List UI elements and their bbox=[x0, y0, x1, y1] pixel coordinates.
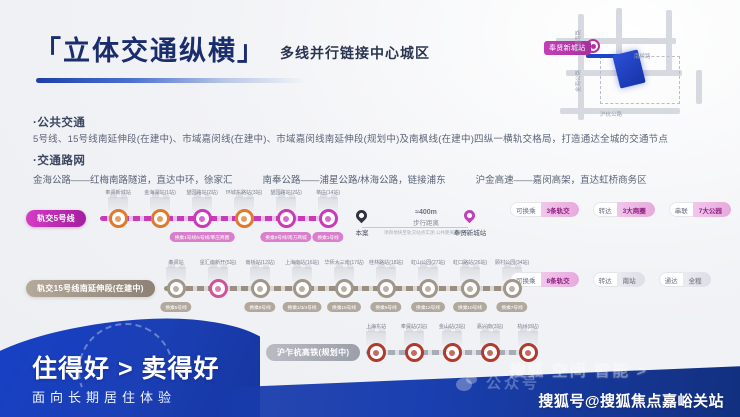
road-item: 南奉公路——浦星公路/林海公路，链接浦东 bbox=[263, 172, 446, 186]
map-pin-icon bbox=[464, 210, 475, 226]
line5-badge-group: 可换乘 3条轨交 转达 3大商圈 串联 7大公园 bbox=[510, 202, 731, 217]
walk-distance-callout: 本案 ≈400m 步行距离 项目地块至轨交站点实测 公共距离参考值 奉贤新城站 bbox=[346, 208, 506, 254]
station-marker[interactable] bbox=[319, 209, 338, 228]
header-underline bbox=[36, 78, 306, 83]
page-subtitle: 多线并行链接中心城区 bbox=[280, 43, 430, 65]
station-marker[interactable] bbox=[461, 279, 480, 298]
station-transfer-pill: 换乘7号线 bbox=[496, 302, 527, 312]
stat-key: 串联 bbox=[669, 202, 693, 217]
station-marker[interactable] bbox=[109, 209, 128, 228]
copy-category-road: ·交通路网 bbox=[33, 154, 723, 169]
station-name: 环城东路站(3站) bbox=[226, 189, 263, 196]
station-marker[interactable] bbox=[377, 279, 396, 298]
walk-distance-value: ≈400m bbox=[415, 209, 437, 216]
station-name: 望园路站(2站) bbox=[270, 189, 301, 196]
station-marker[interactable] bbox=[151, 209, 170, 228]
line15-badge-group: 可换乘 8条轨交 转达 南站 通达 全程 bbox=[510, 272, 711, 287]
station-marker[interactable] bbox=[481, 343, 500, 362]
map-road bbox=[696, 70, 702, 104]
station-name: 奉贤新城站 bbox=[105, 189, 130, 196]
stat-key: 转达 bbox=[593, 272, 617, 287]
station-marker[interactable] bbox=[503, 279, 522, 298]
copy-transit-detail: 5号线、15号线南延伸段(在建中)、市域嘉闵线(在建中)、市域嘉闵线南延伸段(规… bbox=[33, 134, 723, 147]
stat-key: 通达 bbox=[659, 272, 683, 287]
stat-badge: 转达 南站 bbox=[593, 272, 645, 287]
station-marker[interactable] bbox=[519, 343, 538, 362]
map-station-tag: 奉贤新城站 bbox=[544, 41, 591, 55]
station-marker[interactable] bbox=[251, 279, 270, 298]
line-badge-rail: 沪乍杭高铁(规划中) bbox=[266, 344, 360, 361]
station-name: 上海南站(16站) bbox=[285, 259, 319, 266]
station-name: 南桥站(12站) bbox=[245, 259, 274, 266]
stat-badge: 可换乘 3条轨交 bbox=[510, 202, 579, 217]
station-name: 奉贤站 bbox=[168, 259, 183, 266]
station-transfer-pill: 换乘5号线 bbox=[160, 302, 191, 312]
stat-value: 3大商圈 bbox=[617, 202, 655, 217]
line-track-line5 bbox=[100, 216, 330, 221]
map-pin-icon bbox=[356, 210, 367, 226]
station-transfer-pill: 换乘12号线 bbox=[411, 302, 445, 312]
station-transfer-pill: 换乘9号线 bbox=[370, 302, 401, 312]
copy-road-list: 金海公路——红梅南路隧道，直达中环，徐家汇 南奉公路——浦星公路/林海公路，链接… bbox=[33, 172, 723, 186]
stat-value: 南站 bbox=[617, 272, 645, 287]
stat-value: 7大公园 bbox=[693, 202, 731, 217]
station-marker[interactable] bbox=[443, 343, 462, 362]
station-transfer-pill: 换乘10号线 bbox=[453, 302, 487, 312]
location-minimap: 奉贤新城站 望园南路 金海公路 沪杭公路 南桥路 bbox=[538, 8, 734, 126]
station-name: 桂林路站(18站) bbox=[369, 259, 403, 266]
walk-connector bbox=[362, 227, 468, 228]
station-name: 上海东站 bbox=[366, 323, 386, 330]
walk-distance-caption: 步行距离 bbox=[413, 217, 439, 227]
station-name: 杭州(8站) bbox=[517, 323, 538, 330]
promo-title: 住得好 > 卖得好 bbox=[32, 349, 220, 385]
stat-key: 可换乘 bbox=[510, 202, 541, 217]
map-road-label: 南桥路 bbox=[634, 52, 651, 60]
station-transfer-pill: 换乘1号线 bbox=[312, 232, 343, 242]
page-title: 「立体交通纵横」 bbox=[34, 38, 266, 65]
station-name: 奉贤站(2站) bbox=[401, 323, 427, 330]
station-transfer-pill: 换乘9号线/南方商城 bbox=[260, 232, 311, 242]
map-road-label: 沪杭公路 bbox=[600, 110, 622, 118]
road-item: 金海公路——红梅南路隧道，直达中环，徐家汇 bbox=[33, 172, 233, 186]
station-marker[interactable] bbox=[335, 279, 354, 298]
station-marker[interactable] bbox=[193, 209, 212, 228]
station-transfer-pill: 换乘1/3/4号线 bbox=[283, 302, 322, 312]
station-marker[interactable] bbox=[277, 209, 296, 228]
line-badge-line5: 轨交5号线 bbox=[26, 210, 86, 227]
line-badge-line15: 轨交15号线南延伸段(在建中) bbox=[26, 280, 155, 297]
station-transfer-pill: 换乘8号线 bbox=[244, 302, 275, 312]
station-name: 星汇南新开(5站) bbox=[200, 259, 237, 266]
station-transfer-pill: 换乘1号线/5号线/莘庄商圈 bbox=[170, 232, 235, 242]
station-name: 金海湖站(1站) bbox=[144, 189, 175, 196]
station-marker[interactable] bbox=[167, 279, 186, 298]
station-name: 虹山公园(27站) bbox=[411, 259, 445, 266]
stat-badge: 串联 7大公园 bbox=[669, 202, 731, 217]
station-transfer-pill: 换乘15号线 bbox=[327, 302, 361, 312]
station-marker[interactable] bbox=[293, 279, 312, 298]
stat-value: 全程 bbox=[683, 272, 711, 287]
station-name: 嘉兴南(3站) bbox=[477, 323, 503, 330]
station-name: 金山站(3站) bbox=[439, 323, 465, 330]
body-copy: ·公共交通 5号线、15号线南延伸段(在建中)、市域嘉闵线(在建中)、市域嘉闵线… bbox=[33, 116, 723, 186]
road-item: 沪金高速——嘉闵高架，直达虹桥商务区 bbox=[476, 172, 647, 186]
map-road-label: 望园南路 bbox=[574, 30, 582, 52]
page-header: 「立体交通纵横」 多线并行链接中心城区 bbox=[34, 38, 430, 65]
stat-badge: 转达 3大商圈 bbox=[593, 202, 655, 217]
wechat-icon bbox=[456, 378, 472, 391]
station-marker[interactable] bbox=[405, 343, 424, 362]
station-name: 华师大三南(17站) bbox=[324, 259, 363, 266]
station-marker[interactable] bbox=[367, 343, 386, 362]
station-name: 虹口路站(26站) bbox=[453, 259, 487, 266]
slide-canvas: 「立体交通纵横」 多线并行链接中心城区 ·公共交通 5号线、15号线南延伸段(在… bbox=[0, 0, 740, 417]
stat-badge: 通达 全程 bbox=[659, 272, 711, 287]
stat-key: 转达 bbox=[593, 202, 617, 217]
watermark-main: 搜狐号@搜狐焦点嘉峪关站 bbox=[538, 390, 724, 411]
transit-row-line5: 轨交5号线 奉贤新城站金海湖站(1站)望园路站(2站)环城东路站(3站)望园路站… bbox=[18, 188, 348, 246]
map-road-label: 金海公路 bbox=[574, 70, 582, 92]
walk-origin-label: 本案 bbox=[356, 227, 369, 237]
station-marker[interactable] bbox=[235, 209, 254, 228]
station-name: 顾村公园(34站) bbox=[495, 259, 529, 266]
station-name: 望园路站(2站) bbox=[186, 189, 217, 196]
station-marker[interactable] bbox=[419, 279, 438, 298]
stat-value: 3条轨交 bbox=[541, 202, 579, 217]
promo-subtitle: 面向长期居住体验 bbox=[32, 387, 176, 406]
stat-value: 8条轨交 bbox=[541, 272, 579, 287]
station-name: 莘庄(14站) bbox=[316, 189, 340, 196]
walk-destination-label: 奉贤新城站 bbox=[454, 227, 487, 237]
station-marker[interactable] bbox=[209, 279, 228, 298]
